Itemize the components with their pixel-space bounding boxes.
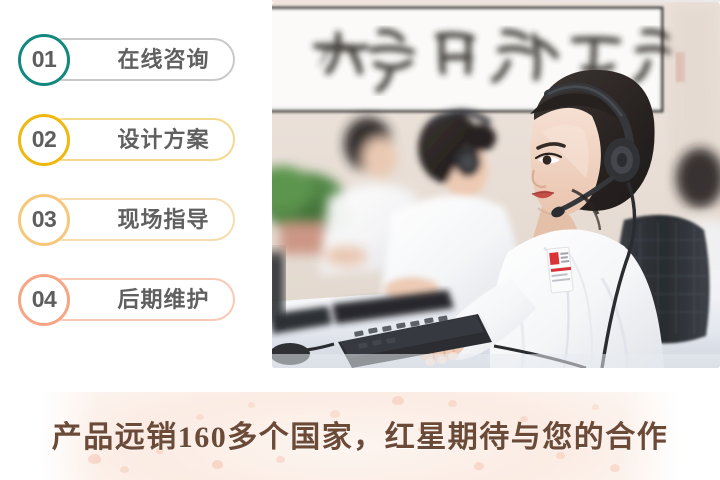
service-step-item-1[interactable]: 在线咨询 01 xyxy=(18,34,240,86)
bottom-slogan-banner: 产品远销160多个国家，红星期待与您的合作 xyxy=(0,392,720,480)
step-label-3: 现场指导 xyxy=(96,198,231,241)
service-step-item-4[interactable]: 后期维护 04 xyxy=(18,274,240,326)
promo-banner-page: 在线咨询 01 设计方案 02 现场指导 03 后期维护 04 xyxy=(0,0,720,480)
service-steps-list: 在线咨询 01 设计方案 02 现场指导 03 后期维护 04 xyxy=(0,0,272,392)
step-number-3: 03 xyxy=(18,194,70,246)
slogan-text: 产品远销160多个国家，红星期待与您的合作 xyxy=(0,392,720,480)
step-label-1: 在线咨询 xyxy=(96,38,231,81)
step-number-4: 04 xyxy=(18,274,70,326)
service-step-item-2[interactable]: 设计方案 02 xyxy=(18,114,240,166)
step-label-4: 后期维护 xyxy=(96,278,231,321)
step-number-2: 02 xyxy=(18,114,70,166)
service-step-item-3[interactable]: 现场指导 03 xyxy=(18,194,240,246)
step-number-1: 01 xyxy=(18,34,70,86)
call-center-photo xyxy=(272,2,720,368)
step-label-2: 设计方案 xyxy=(96,118,231,161)
